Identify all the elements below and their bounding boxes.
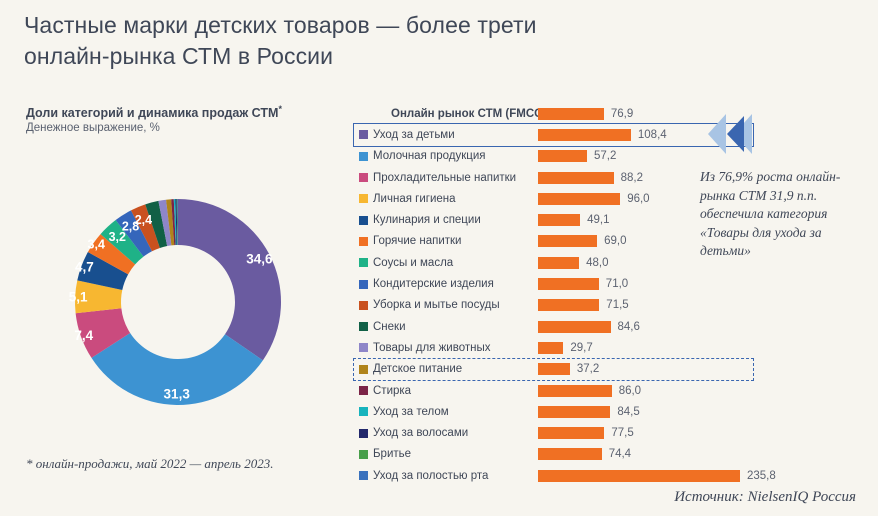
donut-heading: Доли категорий и динамика продаж СТМ* <box>26 104 282 120</box>
donut-slice-label: 2,4 <box>135 213 152 227</box>
bar-area: 86,0 <box>538 380 641 401</box>
bar-fill <box>538 257 579 269</box>
bar-fill <box>538 214 580 226</box>
bar-fill <box>538 427 604 439</box>
bar-row[interactable]: Уход за детьми108,4 <box>355 124 690 145</box>
bar-category-label: Уход за детьми <box>373 129 455 141</box>
bar-category-label: Молочная продукция <box>373 150 486 162</box>
bar-row[interactable]: Онлайн рынок СТМ (FMCG)76,9 <box>355 103 690 124</box>
legend-swatch <box>359 237 368 246</box>
bar-value-label: 84,6 <box>618 321 640 333</box>
bar-area: 235,8 <box>538 465 776 486</box>
bar-value-label: 29,7 <box>570 342 592 354</box>
bar-value-label: 49,1 <box>587 214 609 226</box>
bar-row[interactable]: Личная гигиена96,0 <box>355 188 690 209</box>
bar-category-label: Уборка и мытье посуды <box>373 299 500 311</box>
legend-swatch <box>359 322 368 331</box>
donut-slice-label: 3,4 <box>88 237 105 251</box>
bar-row[interactable]: Горячие напитки69,0 <box>355 231 690 252</box>
bar-category-label: Снеки <box>373 321 406 333</box>
donut-heading-text: Доли категорий и динамика продаж СТМ <box>26 106 278 120</box>
bar-row[interactable]: Прохладительные напитки88,2 <box>355 167 690 188</box>
bar-category-label: Кондитерские изделия <box>373 278 494 290</box>
bar-value-label: 86,0 <box>619 385 641 397</box>
bar-value-label: 71,5 <box>606 299 628 311</box>
donut-slice-label: 4,7 <box>75 259 94 274</box>
bar-value-label: 108,4 <box>638 129 667 141</box>
bar-area: 29,7 <box>538 337 593 358</box>
bar-category-label: Уход за волосами <box>373 427 468 439</box>
legend-swatch <box>359 407 368 416</box>
bar-area: 69,0 <box>538 231 626 252</box>
bar-area: 96,0 <box>538 188 650 209</box>
donut-slice-label: 31,3 <box>164 386 191 401</box>
bar-value-label: 71,0 <box>606 278 628 290</box>
bar-fill <box>538 406 610 418</box>
bar-fill <box>538 470 740 482</box>
donut-slice-label: 5,1 <box>69 289 88 304</box>
bar-value-label: 57,2 <box>594 150 616 162</box>
bar-category-label: Прохладительные напитки <box>373 172 516 184</box>
donut-chart: 34,631,37,45,14,73,43,22,82,4 <box>28 152 328 452</box>
bar-area: 71,5 <box>538 295 629 316</box>
legend-swatch <box>359 216 368 225</box>
legend-swatch <box>359 471 368 480</box>
legend-swatch <box>359 173 368 182</box>
donut-svg: 34,631,37,45,14,73,43,22,82,4 <box>28 152 328 452</box>
bar-row[interactable]: Уход за телом84,5 <box>355 401 690 422</box>
donut-slice-label: 34,6 <box>246 252 273 267</box>
bar-area: 84,6 <box>538 316 640 337</box>
bar-category-label: Соусы и масла <box>373 257 453 269</box>
bar-row[interactable]: Кулинария и специи49,1 <box>355 209 690 230</box>
bar-value-label: 76,9 <box>611 108 633 120</box>
bar-fill <box>538 321 611 333</box>
bar-value-label: 84,5 <box>617 406 639 418</box>
bar-category-label: Уход за полостью рта <box>373 470 488 482</box>
page-title: Частные марки детских товаров — более тр… <box>24 10 584 72</box>
bar-row[interactable]: Детское питание37,2 <box>355 359 690 380</box>
bar-fill <box>538 235 597 247</box>
bar-chart: Онлайн рынок СТМ (FMCG)76,9Уход за детьм… <box>355 103 690 486</box>
donut-slice-label: 7,4 <box>74 328 93 343</box>
bar-area: 48,0 <box>538 252 608 273</box>
bar-fill <box>538 363 570 375</box>
bar-row[interactable]: Уборка и мытье посуды71,5 <box>355 295 690 316</box>
bar-fill <box>538 172 614 184</box>
bar-category-label: Бритье <box>373 448 411 460</box>
bar-fill <box>538 108 604 120</box>
bar-area: 88,2 <box>538 167 643 188</box>
bar-category-label: Горячие напитки <box>373 235 461 247</box>
bar-category-label: Детское питание <box>373 363 462 375</box>
donut-subheading: Денежное выражение, % <box>26 122 160 134</box>
annotation-text: Из 76,9% роста онлайн-рынка СТМ 31,9 п.п… <box>700 168 872 261</box>
bar-row[interactable]: Соусы и масла48,0 <box>355 252 690 273</box>
bar-area: 71,0 <box>538 273 628 294</box>
bar-row[interactable]: Уход за волосами77,5 <box>355 422 690 443</box>
legend-swatch <box>359 258 368 267</box>
legend-swatch <box>359 386 368 395</box>
bar-fill <box>538 278 599 290</box>
bar-category-label: Кулинария и специи <box>373 214 481 226</box>
legend-swatch <box>359 343 368 352</box>
bar-value-label: 235,8 <box>747 470 776 482</box>
double-chevron-left-icon <box>700 112 758 156</box>
bar-row[interactable]: Снеки84,6 <box>355 316 690 337</box>
bar-value-label: 48,0 <box>586 257 608 269</box>
bar-fill <box>538 299 599 311</box>
legend-swatch <box>359 130 368 139</box>
bar-area: 49,1 <box>538 209 609 230</box>
bar-row[interactable]: Стирка86,0 <box>355 380 690 401</box>
bar-area: 37,2 <box>538 359 599 380</box>
source-label: Источник: NielsenIQ Россия <box>674 489 856 506</box>
bar-value-label: 96,0 <box>627 193 649 205</box>
legend-swatch <box>359 429 368 438</box>
bar-area: 84,5 <box>538 401 640 422</box>
footnote: * онлайн-продажи, май 2022 — апрель 2023… <box>26 456 273 472</box>
bar-fill <box>538 342 563 354</box>
bar-row[interactable]: Товары для животных29,7 <box>355 337 690 358</box>
bar-fill <box>538 129 631 141</box>
bar-row[interactable]: Кондитерские изделия71,0 <box>355 273 690 294</box>
bar-fill <box>538 150 587 162</box>
bar-area: 77,5 <box>538 422 634 443</box>
bar-value-label: 88,2 <box>621 172 643 184</box>
bar-category-label: Стирка <box>373 385 411 397</box>
bar-value-label: 69,0 <box>604 235 626 247</box>
bar-category-label: Товары для животных <box>373 342 490 354</box>
bar-category-label: Онлайн рынок СТМ (FMCG) <box>391 108 547 120</box>
donut-slice <box>178 199 281 360</box>
bar-row[interactable]: Уход за полостью рта235,8 <box>355 465 690 486</box>
bar-value-label: 74,4 <box>609 448 631 460</box>
legend-swatch <box>359 365 368 374</box>
legend-swatch <box>359 280 368 289</box>
bar-row[interactable]: Молочная продукция57,2 <box>355 146 690 167</box>
bar-area: 108,4 <box>538 124 667 145</box>
bar-fill <box>538 193 620 205</box>
legend-swatch <box>359 301 368 310</box>
bar-area: 57,2 <box>538 146 616 167</box>
bar-fill <box>538 448 602 460</box>
legend-swatch <box>359 194 368 203</box>
legend-swatch <box>359 450 368 459</box>
bar-area: 74,4 <box>538 444 631 465</box>
bar-value-label: 37,2 <box>577 363 599 375</box>
bar-area: 76,9 <box>538 103 633 124</box>
bar-value-label: 77,5 <box>611 427 633 439</box>
bar-category-label: Личная гигиена <box>373 193 456 205</box>
bar-row[interactable]: Бритье74,4 <box>355 444 690 465</box>
bar-fill <box>538 385 612 397</box>
legend-swatch <box>359 152 368 161</box>
infographic-canvas: Частные марки детских товаров — более тр… <box>0 0 878 516</box>
donut-heading-asterisk: * <box>278 104 282 114</box>
bar-category-label: Уход за телом <box>373 406 449 418</box>
